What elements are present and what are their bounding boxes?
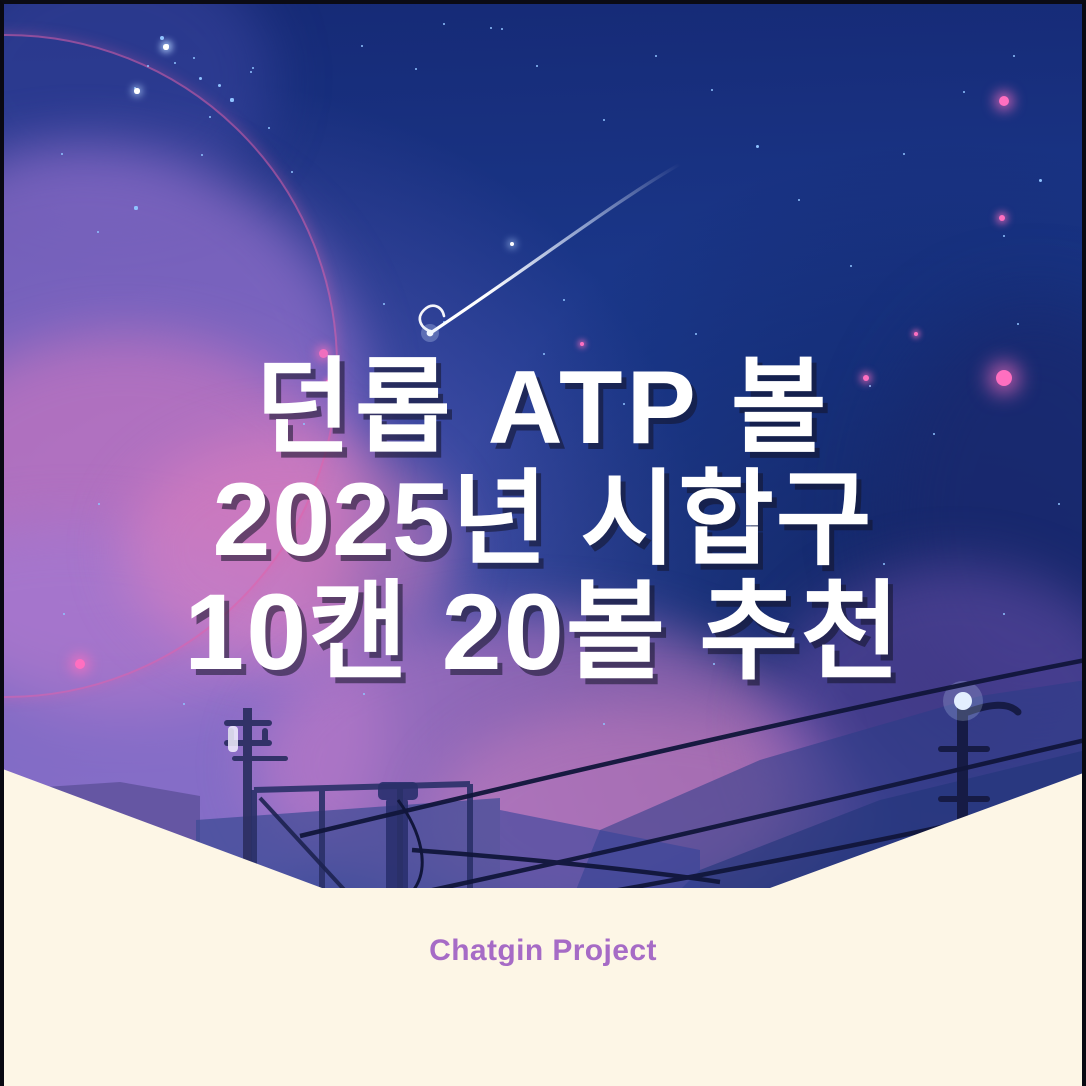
star-icon <box>655 55 658 58</box>
star-icon <box>1013 55 1016 58</box>
star-icon <box>501 28 504 31</box>
star-icon <box>711 89 713 91</box>
star-icon <box>291 171 294 174</box>
poster-title: 던롭 ATP 볼 2025년 시합구 10캔 20볼 추천 <box>0 352 1086 688</box>
poster-card: 던롭 ATP 볼 2025년 시합구 10캔 20볼 추천 Chatgin Pr… <box>0 0 1086 1086</box>
footer-brand: Chatgin Project <box>0 934 1086 968</box>
star-icon <box>999 215 1005 221</box>
star-icon <box>160 36 164 40</box>
star-icon <box>536 65 539 68</box>
star-icon <box>914 332 918 336</box>
star-icon <box>134 88 139 93</box>
star-icon <box>850 265 853 268</box>
star-icon <box>798 199 800 201</box>
star-icon <box>230 98 233 101</box>
star-icon <box>695 333 698 336</box>
star-icon <box>443 23 446 26</box>
star-icon <box>490 27 493 30</box>
shooting-star-icon <box>384 124 684 354</box>
star-icon <box>268 127 271 130</box>
star-icon <box>134 206 137 209</box>
star-icon <box>999 96 1009 106</box>
star-icon <box>903 153 906 156</box>
star-icon <box>415 68 417 70</box>
title-line-3: 10캔 20볼 추천 <box>0 576 1086 688</box>
title-line-2: 2025년 시합구 <box>0 464 1086 576</box>
star-icon <box>163 44 168 49</box>
star-icon <box>199 77 202 80</box>
star-icon <box>1003 235 1006 238</box>
star-icon <box>603 119 606 122</box>
title-line-1: 던롭 ATP 볼 <box>0 352 1086 464</box>
star-icon <box>218 84 221 87</box>
star-icon <box>361 45 364 48</box>
star-icon <box>1039 179 1042 182</box>
star-icon <box>756 145 759 148</box>
star-icon <box>963 91 966 94</box>
